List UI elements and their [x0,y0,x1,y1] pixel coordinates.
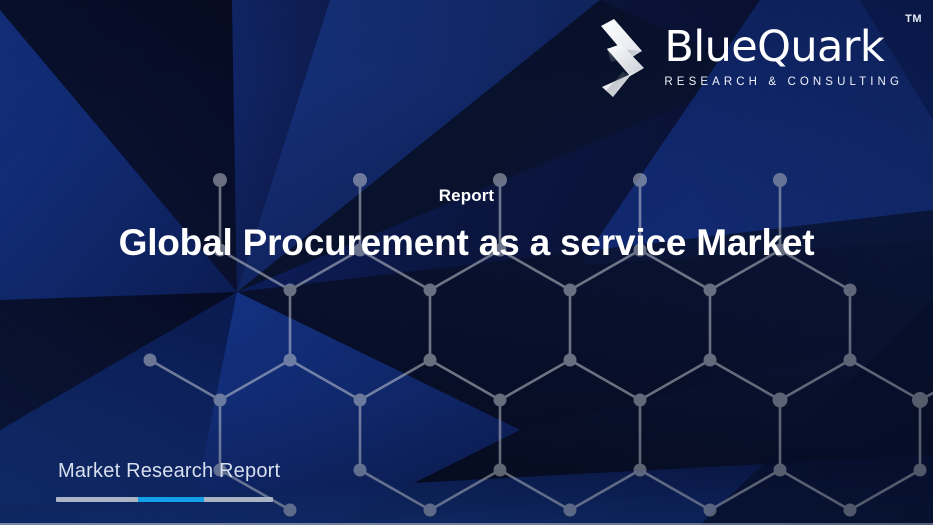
brand-logo[interactable]: BlueQuark RESEARCH & CONSULTING [597,12,903,102]
trademark-symbol: TM [905,13,922,25]
brand-wordmark: BlueQuark [664,26,884,69]
cover-title-block: Report Global Procurement as a service M… [0,186,933,265]
bluequark-double-chevron-icon [597,18,653,102]
page-title: Global Procurement as a service Market [0,222,933,265]
footer-accent-rule [56,497,273,502]
report-cover-page: TM [0,0,933,525]
brand-logo-text: BlueQuark RESEARCH & CONSULTING [664,12,903,88]
rule-segment-right-gray [204,497,273,502]
rule-segment-left-gray [56,497,138,502]
brand-tagline: RESEARCH & CONSULTING [664,76,903,88]
cover-footer: Market Research Report [56,459,280,502]
footer-label: Market Research Report [58,459,280,483]
report-kicker-label: Report [0,186,933,206]
rule-segment-center-blue [138,497,203,502]
